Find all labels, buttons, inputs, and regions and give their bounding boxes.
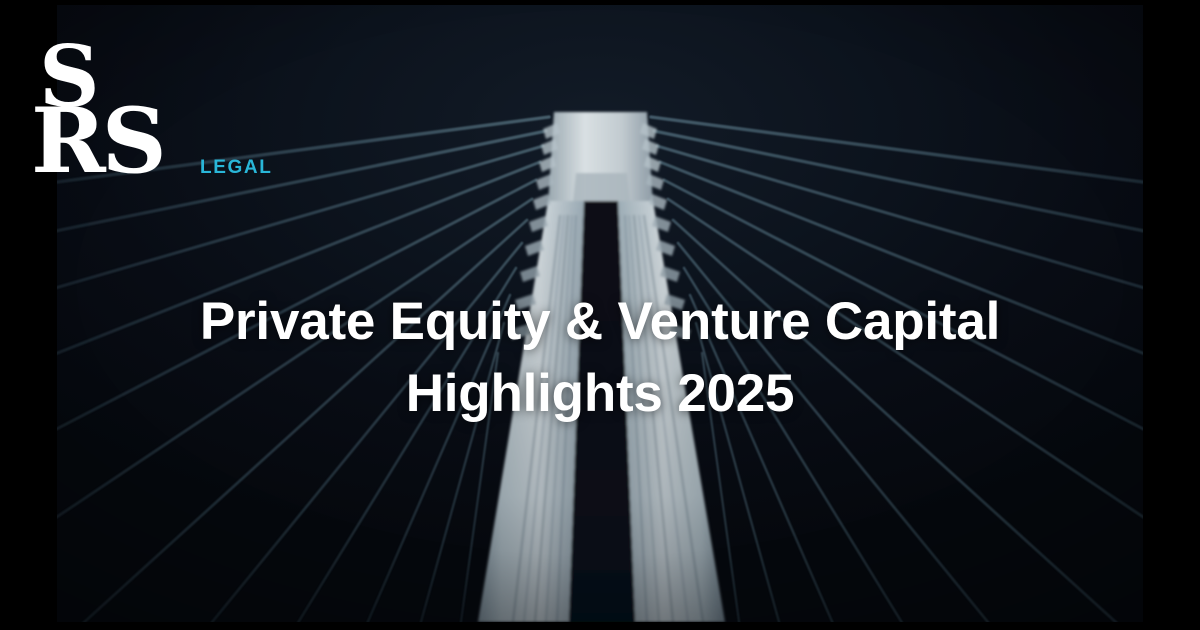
srs-legal-logo: S RS LEGAL xyxy=(31,35,291,195)
logo-wordmark-legal: LEGAL xyxy=(200,157,272,179)
page-title: Private Equity & Venture Capital Highlig… xyxy=(0,286,1200,430)
logo-letters-rs: RS xyxy=(31,96,163,186)
page-title-line-1: Private Equity & Venture Capital xyxy=(0,286,1200,358)
page-title-line-2: Highlights 2025 xyxy=(0,358,1200,430)
slide-canvas: S RS LEGAL Private Equity & Venture Capi… xyxy=(0,0,1200,630)
